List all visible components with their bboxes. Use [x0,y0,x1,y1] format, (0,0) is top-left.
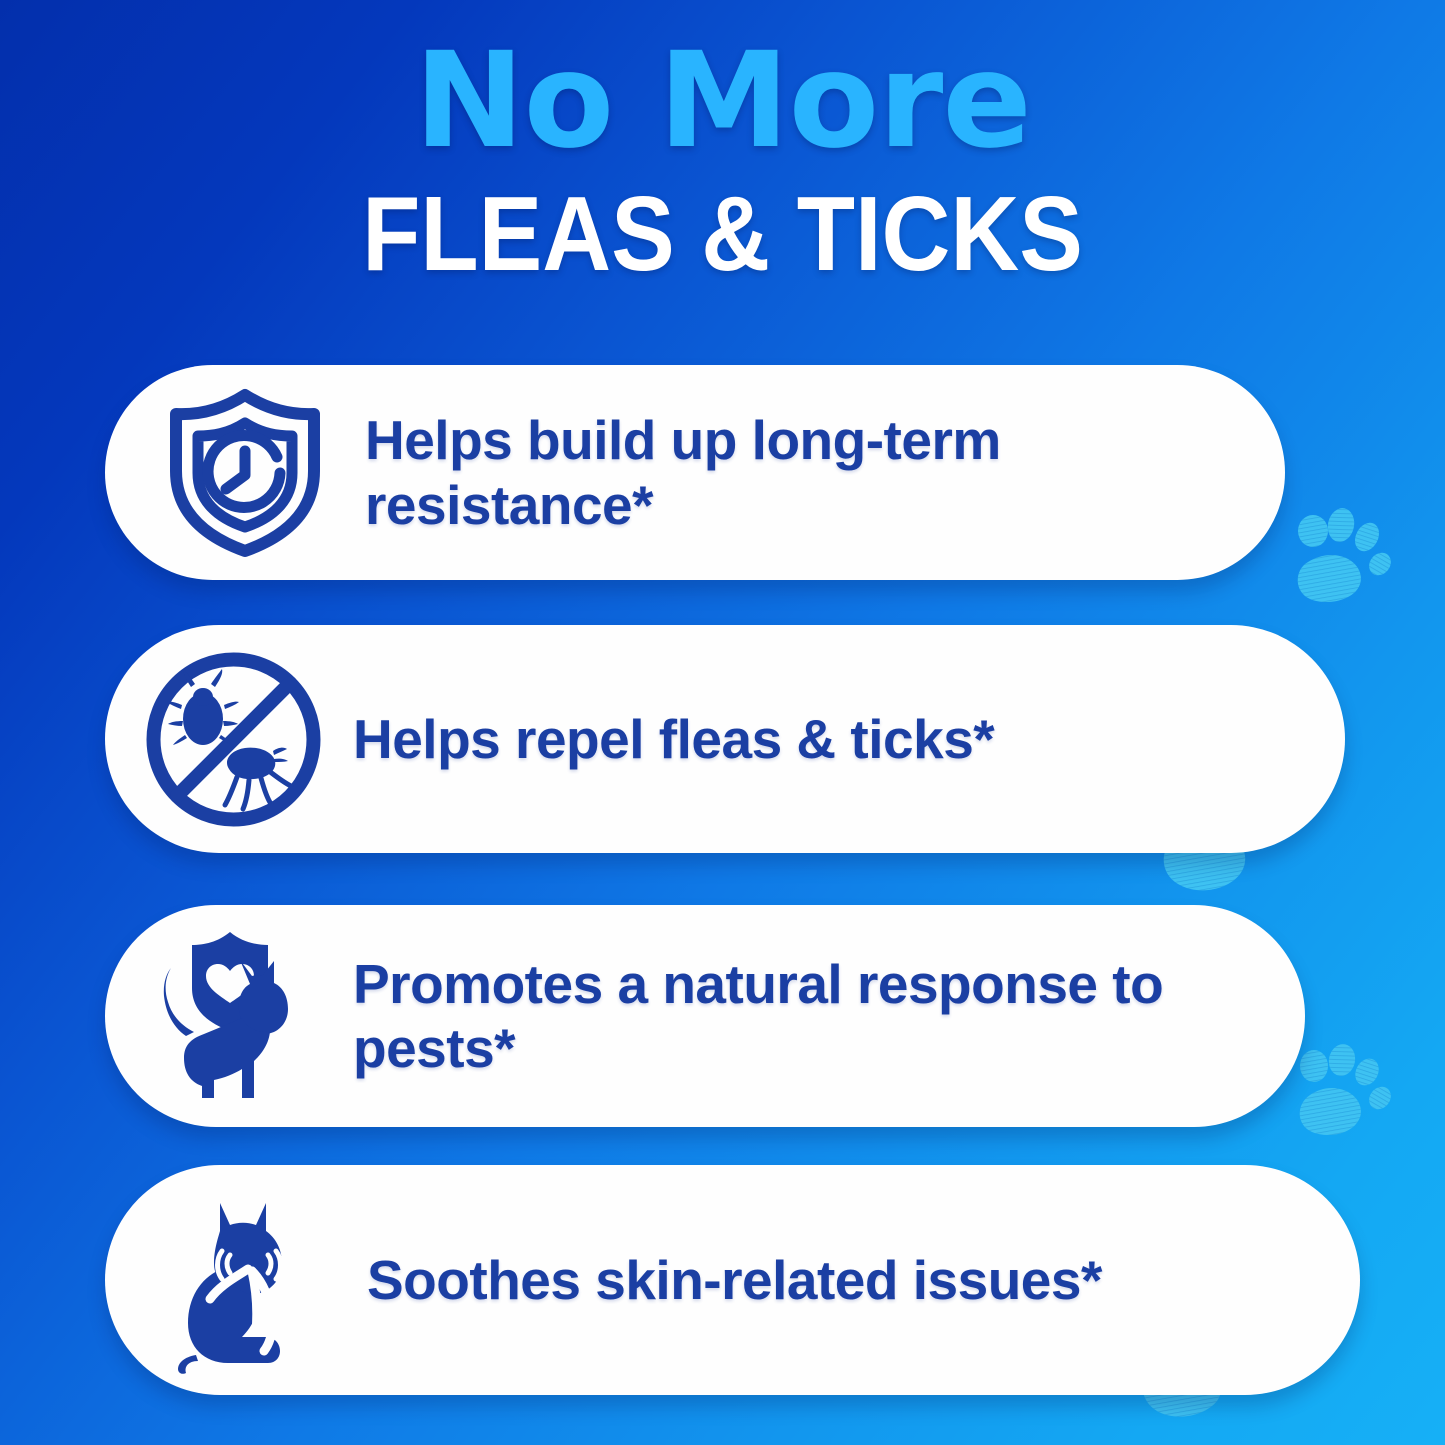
benefit-icon-container [105,385,365,560]
benefit-icon-container [105,926,353,1106]
benefit-text-repel-fleas-ticks: Helps repel fleas & ticks* [353,707,994,771]
benefit-text-skin-related-issues: Soothes skin-related issues* [367,1248,1102,1312]
headline-block: No More FLEAS & TICKS [0,34,1445,287]
benefit-card-long-term-resistance[interactable]: Helps build up long-term resistance* [105,365,1285,580]
cat-shield-heart-icon [142,926,327,1106]
paw-print-1-icon [1288,506,1394,606]
page-title-secondary: FLEAS & TICKS [72,181,1373,287]
benefit-text-natural-response: Promotes a natural response to pests* [353,952,1305,1081]
promo-poster: No More FLEAS & TICKS [0,0,1445,1445]
benefit-card-skin-related-issues[interactable]: Soothes skin-related issues* [105,1165,1360,1395]
paw-print-3-icon [1290,1040,1394,1138]
page-title-primary: No More [0,34,1445,169]
benefit-card-repel-fleas-ticks[interactable]: Helps repel fleas & ticks* [105,625,1345,853]
cat-scratching-icon [156,1185,336,1375]
benefit-text-long-term-resistance: Helps build up long-term resistance* [365,408,1285,537]
no-fleas-ticks-icon [141,647,326,832]
benefit-icon-container [105,647,353,832]
benefit-icon-container [105,1185,367,1375]
shield-clock-icon [160,385,330,560]
benefit-card-natural-response[interactable]: Promotes a natural response to pests* [105,905,1305,1127]
